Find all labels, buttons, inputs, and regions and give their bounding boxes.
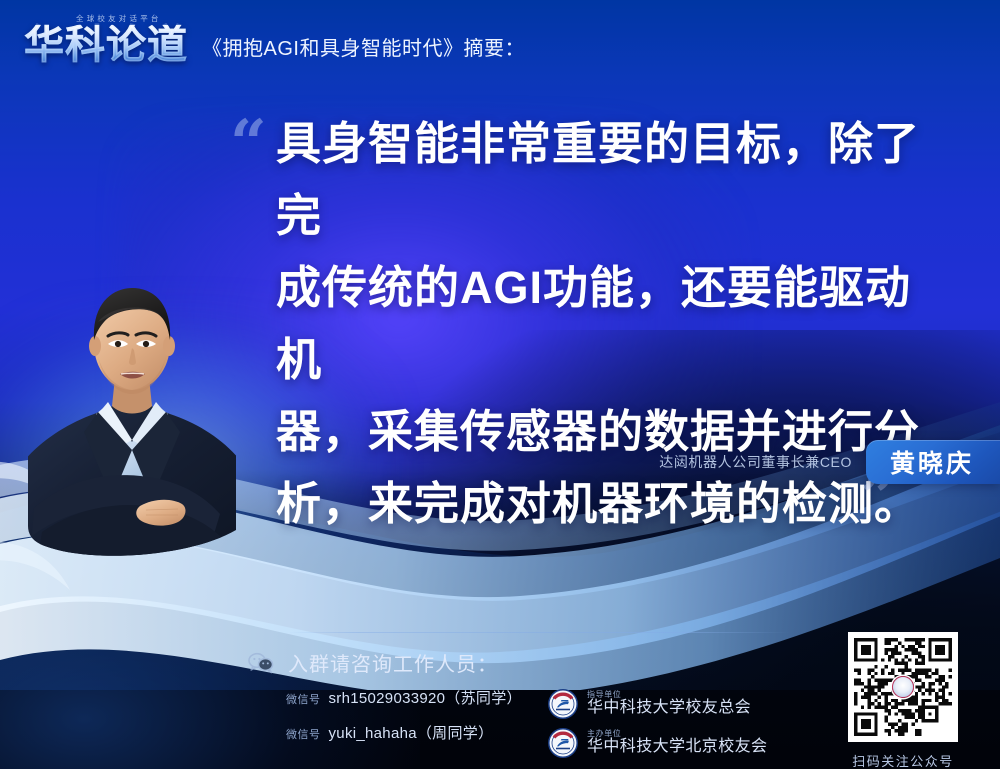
organization-list: 指导单位 华中科技大学校友总会 主办单位 华中 <box>548 687 767 767</box>
header-subtitle: 《拥抱AGI和具身智能时代》摘要： <box>202 32 525 65</box>
organization-row: 主办单位 华中科技大学北京校友会 <box>548 728 767 758</box>
contact-list: 微信号 srh15029033920（苏同学） 微信号 yuki_hahaha（… <box>248 687 548 767</box>
qr-center-logo-icon <box>892 676 914 698</box>
speaker-role: 达闼机器人公司董事长兼CEO <box>659 452 852 472</box>
logo-wordmark: 华科论道 <box>24 25 188 65</box>
footer-heading-row: 入群请咨询工作人员： <box>248 648 808 677</box>
contact-row: 微信号 yuki_hahaha（周同学） <box>286 722 548 743</box>
speaker-name-badge: 黄晓庆 <box>866 440 1000 484</box>
contact-label: 微信号 <box>286 726 321 742</box>
poster-canvas: 全球校友对话平台 华科论道 《拥抱AGI和具身智能时代》摘要： “ 具身智能非常… <box>0 0 1000 769</box>
qr-code[interactable] <box>848 632 958 742</box>
organization-name: 华中科技大学校友总会 <box>587 700 751 717</box>
university-seal-icon <box>548 689 578 719</box>
speaker-attribution: 达闼机器人公司董事长兼CEO 黄晓庆 <box>659 440 992 484</box>
qr-block: 扫码关注公众号 <box>838 632 968 769</box>
speaker-name: 黄晓庆 <box>890 444 974 480</box>
contact-row: 微信号 srh15029033920（苏同学） <box>286 687 548 708</box>
organization-text: 主办单位 华中科技大学北京校友会 <box>587 730 767 756</box>
contact-value[interactable]: yuki_hahaha（周同学） <box>329 722 494 743</box>
footer-heading: 入群请咨询工作人员： <box>288 648 498 677</box>
qr-caption: 扫码关注公众号 <box>838 751 968 769</box>
header: 全球校友对话平台 华科论道 《拥抱AGI和具身智能时代》摘要： <box>24 14 525 65</box>
contact-label: 微信号 <box>286 691 321 707</box>
wechat-icon <box>248 652 274 674</box>
brand-logo[interactable]: 全球校友对话平台 华科论道 <box>24 14 188 65</box>
footer-columns: 微信号 srh15029033920（苏同学） 微信号 yuki_hahaha（… <box>248 687 808 767</box>
organization-text: 指导单位 华中科技大学校友总会 <box>587 691 751 717</box>
contact-value[interactable]: srh15029033920（苏同学） <box>329 687 522 708</box>
footer-divider <box>288 632 790 633</box>
organization-name: 华中科技大学北京校友会 <box>587 739 767 756</box>
quote-open-mark: “ <box>230 112 267 176</box>
organization-row: 指导单位 华中科技大学校友总会 <box>548 689 767 719</box>
university-seal-icon <box>548 728 578 758</box>
footer: 入群请咨询工作人员： 微信号 srh15029033920（苏同学） 微信号 y… <box>248 648 808 767</box>
